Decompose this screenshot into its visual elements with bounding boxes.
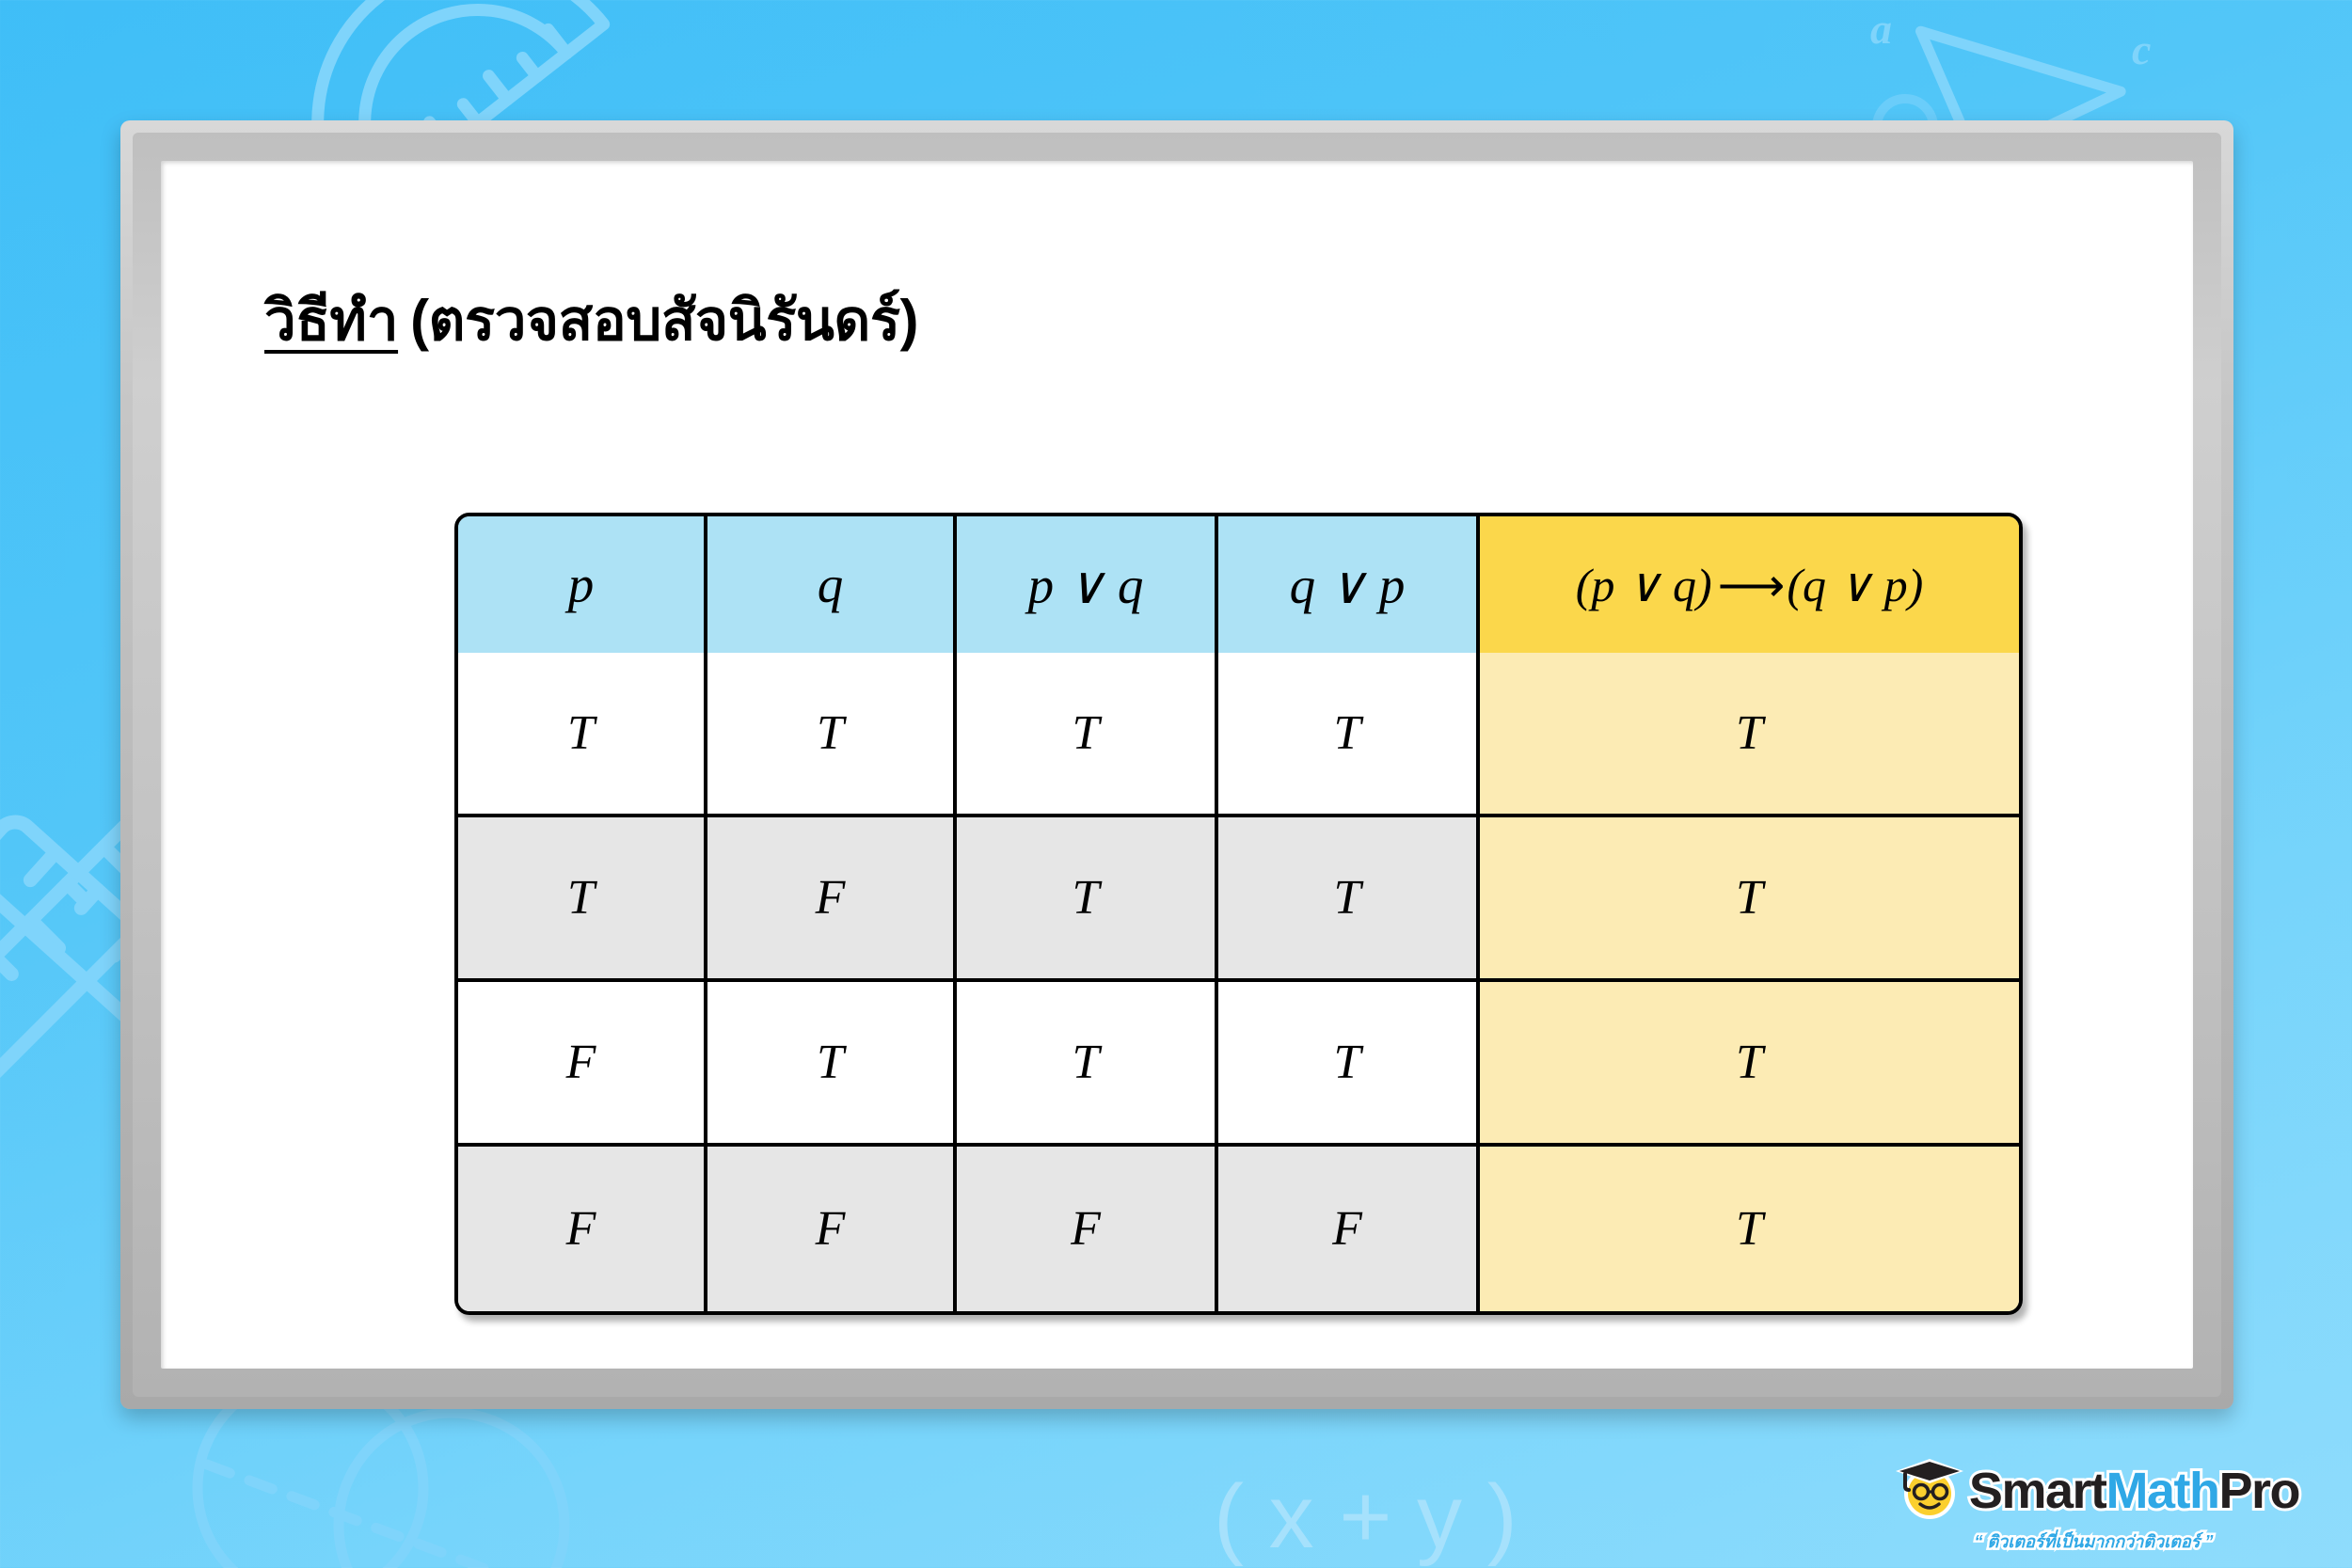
- cell-implication: T: [1480, 982, 2019, 1147]
- cell-p-or-q: T: [957, 817, 1218, 982]
- brand-logo: SmartMathPro “ ติวเตอร์ที่เป็นมากกว่าติว…: [1888, 1454, 2299, 1555]
- triangle-label-a: a: [1870, 5, 1892, 53]
- expression-text: ( x + y ): [1214, 1466, 1515, 1567]
- page-title-subtitle: (ตรวจสอบสัจนิรันดร์): [410, 276, 918, 365]
- cell-q: F: [707, 817, 957, 982]
- table-row: T T T T T: [458, 653, 2019, 817]
- table-row: T F T T T: [458, 817, 2019, 982]
- brand-tagline: “ ติวเตอร์ที่เป็นมากกว่าติวเตอร์ ”: [1974, 1528, 2213, 1555]
- brand-word-pro: Pro: [2218, 1463, 2299, 1519]
- implication-consequent: (q ∨ p): [1787, 559, 1923, 611]
- truth-table-body: T T T T T T F T T T: [458, 653, 2019, 1311]
- brand-word-math: Math: [2106, 1463, 2218, 1519]
- cell-p: T: [458, 653, 707, 817]
- cell-q-or-p: T: [1218, 982, 1480, 1147]
- header-cell-p-or-q: p ∨ q: [957, 516, 1218, 653]
- cell-p: F: [458, 982, 707, 1147]
- header-cell-q: q: [707, 516, 957, 653]
- cell-q-or-p: F: [1218, 1147, 1480, 1311]
- implication-antecedent: (p ∨ q): [1576, 559, 1712, 611]
- cell-p-or-q: F: [957, 1147, 1218, 1311]
- cell-q: T: [707, 653, 957, 817]
- whiteboard-frame-outer: วิธีทำ (ตรวจสอบสัจนิรันดร์) p q p ∨ q q …: [120, 120, 2233, 1409]
- cell-q-or-p: T: [1218, 817, 1480, 982]
- header-cell-p: p: [458, 516, 707, 653]
- cell-p-or-q: T: [957, 982, 1218, 1147]
- header-cell-implication: (p ∨ q)⟶(q ∨ p): [1480, 516, 2019, 653]
- cell-p-or-q: T: [957, 653, 1218, 817]
- whiteboard: วิธีทำ (ตรวจสอบสัจนิรันดร์) p q p ∨ q q …: [120, 120, 2233, 1409]
- triangle-label-c: c: [2132, 25, 2151, 73]
- table-row: F F F F T: [458, 1147, 2019, 1311]
- whiteboard-frame-inner: วิธีทำ (ตรวจสอบสัจนิรันดร์) p q p ∨ q q …: [133, 133, 2221, 1397]
- brand-logo-main: SmartMathPro: [1888, 1454, 2299, 1527]
- cell-q-or-p: T: [1218, 653, 1480, 817]
- brand-logo-wordmark: SmartMathPro: [1969, 1465, 2299, 1516]
- header-row: p q p ∨ q q ∨ p (p ∨ q)⟶(q ∨ p): [458, 516, 2019, 653]
- header-cell-q-or-p: q ∨ p: [1218, 516, 1480, 653]
- graduate-smiley-icon: [1888, 1454, 1965, 1527]
- page-title: วิธีทำ (ตรวจสอบสัจนิรันดร์): [264, 276, 918, 365]
- table-row: F T T T T: [458, 982, 2019, 1147]
- cell-q: T: [707, 982, 957, 1147]
- brand-word-smart: Smart: [1969, 1463, 2106, 1519]
- whiteboard-surface: วิธีทำ (ตรวจสอบสัจนิรันดร์) p q p ∨ q q …: [161, 161, 2193, 1369]
- cell-implication: T: [1480, 653, 2019, 817]
- cell-implication: T: [1480, 1147, 2019, 1311]
- page-title-keyword: วิธีทำ: [264, 276, 398, 365]
- truth-table: p q p ∨ q q ∨ p (p ∨ q)⟶(q ∨ p): [454, 513, 2023, 1315]
- cell-q: F: [707, 1147, 957, 1311]
- truth-table-header: p q p ∨ q q ∨ p (p ∨ q)⟶(q ∨ p): [458, 516, 2019, 653]
- expression-decoration: ( x + y ): [1204, 1436, 1515, 1568]
- cell-p: T: [458, 817, 707, 982]
- implication-arrow-icon: ⟶: [1718, 558, 1782, 612]
- cell-p: F: [458, 1147, 707, 1311]
- truth-table-container: p q p ∨ q q ∨ p (p ∨ q)⟶(q ∨ p): [454, 513, 2023, 1315]
- cell-implication: T: [1480, 817, 2019, 982]
